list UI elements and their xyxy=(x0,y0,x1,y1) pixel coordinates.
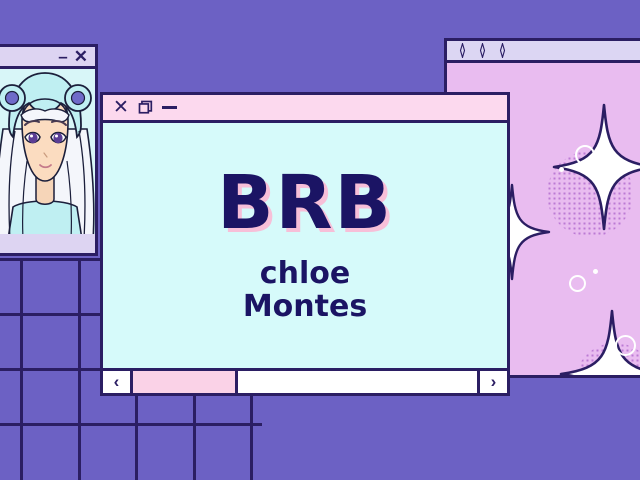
scroll-right-button[interactable]: › xyxy=(477,371,507,393)
avatar xyxy=(0,69,95,234)
scrollbar-thumb[interactable] xyxy=(133,371,238,393)
main-window-titlebar[interactable]: ✕ xyxy=(103,95,507,123)
horizontal-scrollbar[interactable]: ‹ › xyxy=(103,368,507,393)
streamer-name-line-1: chloe xyxy=(243,258,367,290)
circle-outline-icon xyxy=(569,275,586,292)
streamer-name: chloe Montes xyxy=(243,258,367,323)
close-icon[interactable]: ✕ xyxy=(113,98,129,117)
dot-icon xyxy=(605,353,611,359)
right-window-titlebar[interactable] xyxy=(447,41,640,63)
grid-line-vertical xyxy=(20,258,23,480)
avatar-illustration xyxy=(0,69,95,234)
avatar-window[interactable]: – ✕ xyxy=(0,44,98,256)
minimize-icon[interactable]: – xyxy=(58,48,67,65)
grid-line-horizontal xyxy=(0,423,262,426)
circle-outline-icon xyxy=(615,335,636,356)
dot-icon xyxy=(559,167,564,172)
page-title: BRB xyxy=(217,168,393,238)
grid-line-vertical xyxy=(78,258,81,480)
streamer-name-line-2: Montes xyxy=(243,291,367,323)
diamond-sparkle-icon xyxy=(476,43,489,58)
avatar-window-titlebar[interactable]: – ✕ xyxy=(0,47,95,69)
close-icon[interactable]: ✕ xyxy=(74,48,88,65)
minimize-icon[interactable] xyxy=(162,106,177,109)
scroll-left-button[interactable]: ‹ xyxy=(103,371,133,393)
diamond-sparkle-icon xyxy=(456,43,469,58)
scrollbar-track[interactable] xyxy=(133,371,477,393)
main-window[interactable]: ✕ BRB chloe Montes ‹ › xyxy=(100,92,510,396)
main-window-body: BRB chloe Montes xyxy=(103,123,507,368)
maximize-icon[interactable] xyxy=(138,100,153,115)
avatar-window-footer xyxy=(0,234,95,253)
four-point-star-icon xyxy=(552,103,640,231)
diamond-sparkle-icon xyxy=(496,43,509,58)
screenshot-canvas: – ✕ xyxy=(0,0,640,480)
circle-outline-icon xyxy=(575,145,595,165)
dot-icon xyxy=(593,269,598,274)
